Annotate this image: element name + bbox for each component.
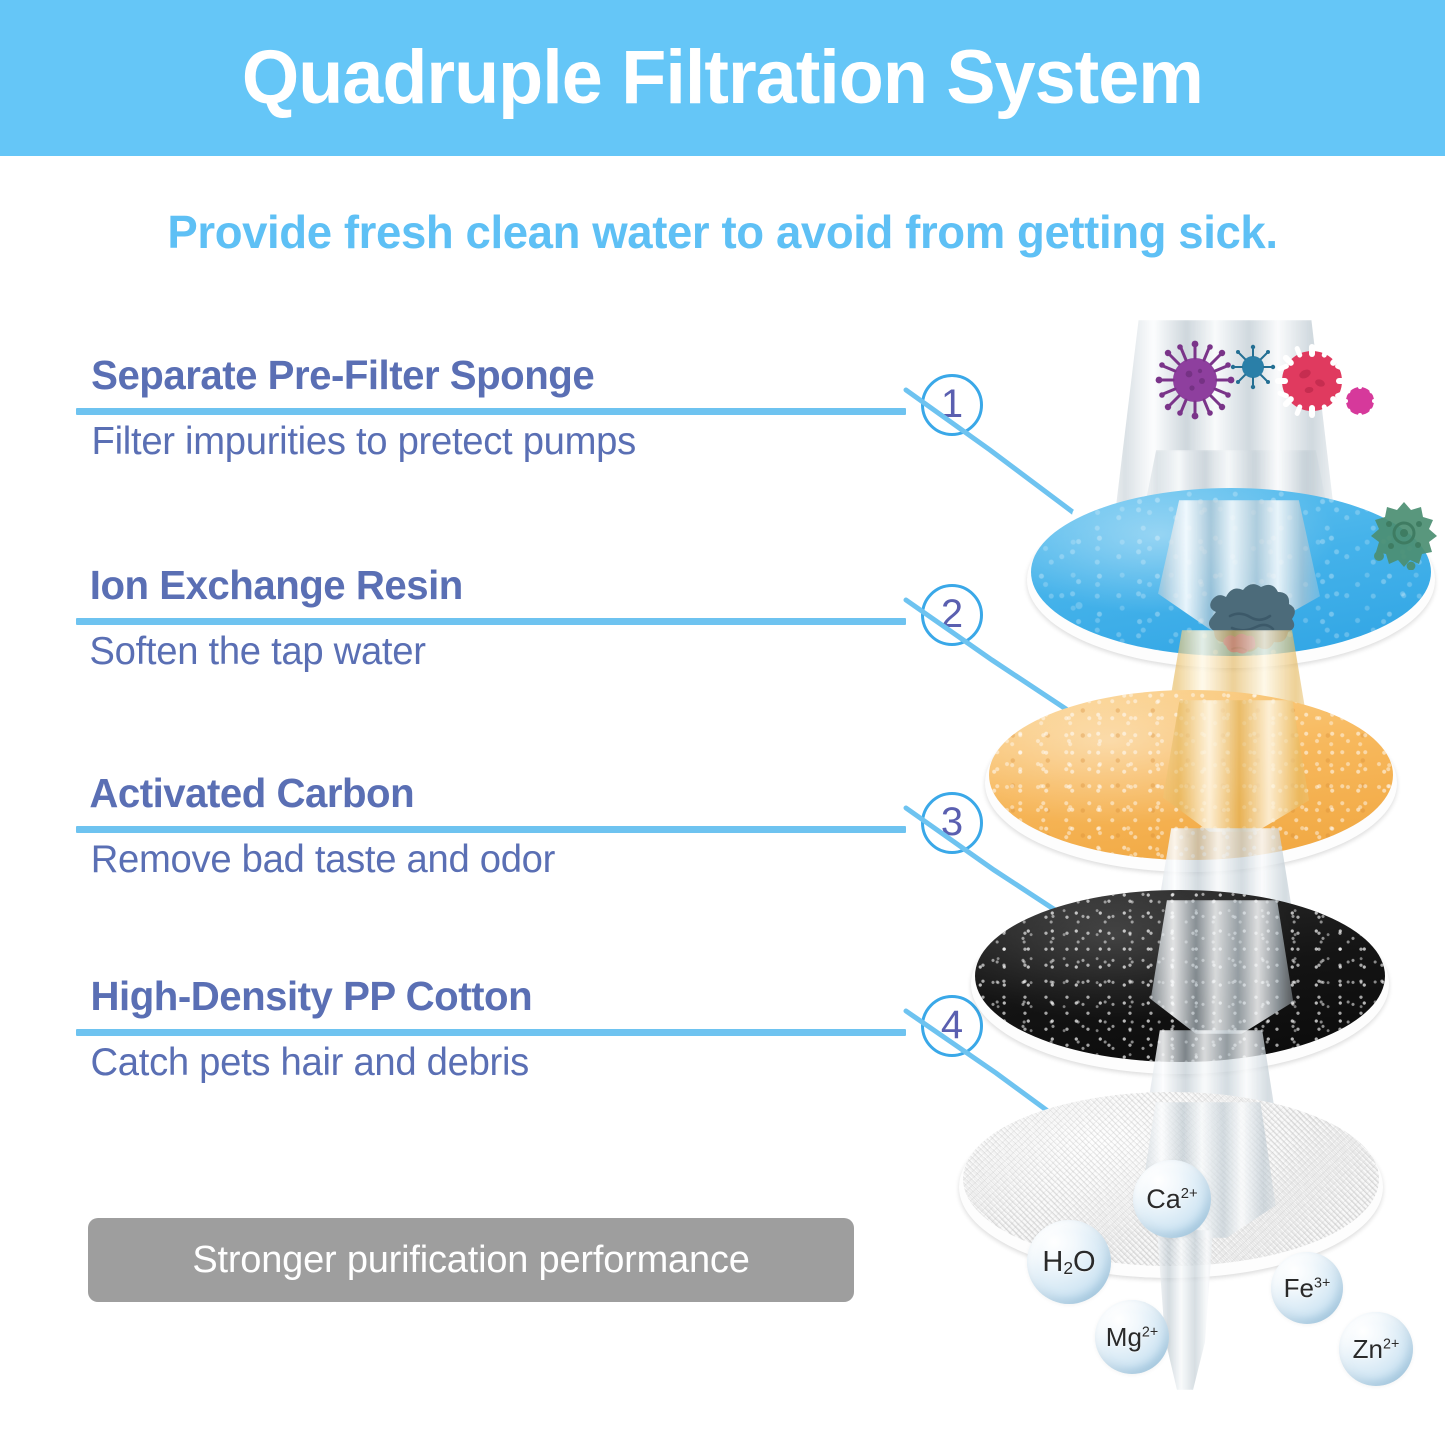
magnesium-ion-charge: 2+ xyxy=(1142,1324,1158,1340)
iron-ion-charge: 3+ xyxy=(1314,1275,1330,1291)
feature-title-3: Activated Carbon xyxy=(89,770,414,817)
feature-rule-3 xyxy=(76,826,906,833)
zinc-ion-label: Zn xyxy=(1353,1334,1383,1364)
feature-title-4: High-Density PP Cotton xyxy=(91,973,533,1020)
page-title: Quadruple Filtration System xyxy=(242,40,1203,116)
magenta-virus-icon xyxy=(1337,378,1383,424)
header-banner: Quadruple Filtration System xyxy=(0,0,1445,156)
feature-title-2: Ion Exchange Resin xyxy=(90,562,463,609)
feature-subtitle-1: Filter impurities to pretect pumps xyxy=(92,420,636,464)
calcium-ion-charge: 2+ xyxy=(1181,1186,1198,1202)
water-molecule-bubble: H2O xyxy=(1027,1220,1111,1304)
magnesium-ion-bubble: Mg2+ xyxy=(1095,1300,1169,1374)
feature-rule-1 xyxy=(76,408,906,415)
green-germ-icon xyxy=(1367,496,1441,570)
calcium-ion-label: Ca xyxy=(1146,1184,1181,1214)
iron-ion-label: Fe xyxy=(1284,1273,1314,1303)
filter-stack-illustration: Ca2+ H2O Fe3+ Mg2+ Zn2+ xyxy=(955,300,1445,1445)
feature-subtitle-4: Catch pets hair and debris xyxy=(90,1041,529,1085)
magnesium-ion-label: Mg xyxy=(1106,1322,1142,1352)
feature-rule-4 xyxy=(76,1029,906,1036)
feature-subtitle-2: Soften the tap water xyxy=(89,630,425,674)
feature-rule-2 xyxy=(76,618,906,625)
page-subtitle: Provide fresh clean water to avoid from … xyxy=(7,205,1438,259)
performance-banner-label: Stronger purification performance xyxy=(192,1239,749,1282)
zinc-ion-bubble: Zn2+ xyxy=(1339,1312,1413,1386)
iron-ion-bubble: Fe3+ xyxy=(1271,1252,1343,1324)
feature-title-1: Separate Pre-Filter Sponge xyxy=(91,352,594,399)
water-molecule-label: H2O xyxy=(1042,1246,1095,1279)
purple-virus-icon xyxy=(1153,338,1237,422)
performance-banner: Stronger purification performance xyxy=(88,1218,854,1302)
zinc-ion-charge: 2+ xyxy=(1383,1336,1399,1352)
feature-list: Separate Pre-Filter Sponge Filter impuri… xyxy=(0,330,1000,1160)
calcium-ion-bubble: Ca2+ xyxy=(1133,1160,1211,1238)
feature-subtitle-3: Remove bad taste and odor xyxy=(91,838,555,882)
